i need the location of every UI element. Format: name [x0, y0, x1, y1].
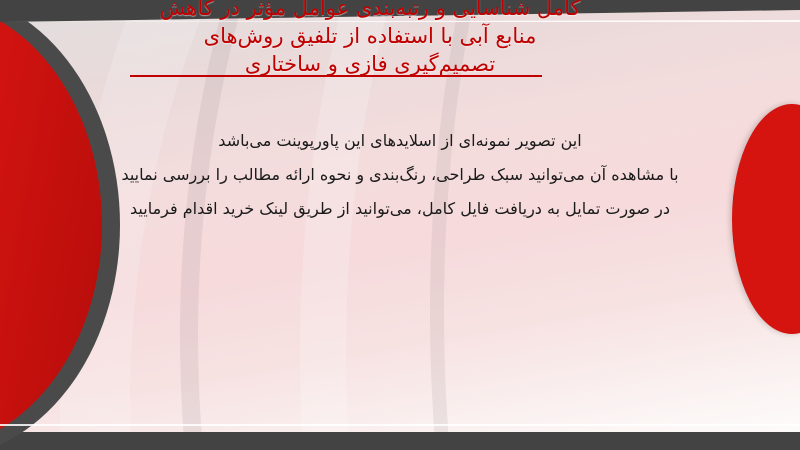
title-line-2: منابع آبی با استفاده از تلفیق روش‌های: [90, 22, 650, 50]
presentation-slide: کامل شناسایی و رتبه‌بندی عوامل مؤثر در ک…: [0, 0, 800, 450]
title-line-3: تصمیم‌گیری فازی و ساختاری: [90, 50, 650, 78]
title-line-1: کامل شناسایی و رتبه‌بندی عوامل مؤثر در ک…: [90, 0, 650, 22]
body-line-3: در صورت تمایل به دریافت فایل کامل، می‌تو…: [40, 192, 760, 226]
bottom-highlight-line: [0, 424, 800, 426]
red-horizontal-rule: [130, 75, 542, 77]
slide-title: کامل شناسایی و رتبه‌بندی عوامل مؤثر در ک…: [90, 0, 650, 78]
slide-body-text: این تصویر نمونه‌ای از اسلایدهای این پاور…: [40, 124, 760, 226]
body-line-2: با مشاهده آن می‌توانید سبک طراحی، رنگ‌بن…: [40, 158, 760, 192]
body-line-1: این تصویر نمونه‌ای از اسلایدهای این پاور…: [40, 124, 760, 158]
